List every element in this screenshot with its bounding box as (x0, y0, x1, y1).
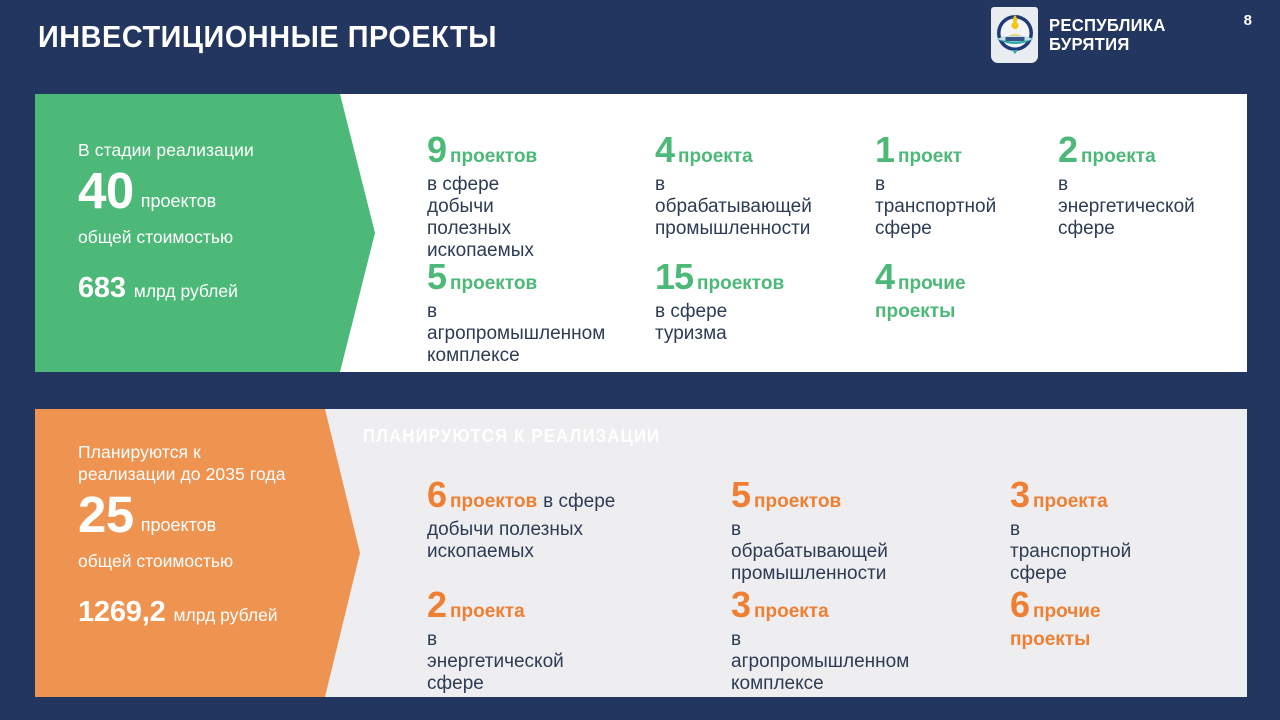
slide-header: ИНВЕСТИЦИОННЫЕ ПРОЕКТЫ РЕСПУБЛИКА (0, 0, 1280, 90)
green-panel-sub: общей стоимостью (78, 226, 328, 248)
project-item-description: проекты (875, 301, 966, 323)
project-item-description: в агропромышленном комплексе (427, 301, 605, 367)
project-item-description: проекты (1010, 629, 1101, 651)
project-item-head: 1проект (875, 132, 996, 168)
brand-line-2: БУРЯТИЯ (1049, 35, 1166, 54)
card-planned: ПЛАНИРУЮТСЯ К РЕАЛИЗАЦИИ Планируются к р… (35, 409, 1247, 697)
card-in-progress: В стадии реализации 40 проектов общей ст… (35, 94, 1247, 372)
project-item-unit: проектов (450, 491, 537, 512)
project-item-head: 6прочие (1010, 587, 1101, 623)
project-item-inline-text: в сфере (543, 491, 615, 512)
project-item: 9проектовв сфере добычи полезных ископае… (427, 132, 537, 262)
project-item-unit: проектов (754, 491, 841, 512)
project-item-count: 5 (731, 474, 750, 515)
project-item: 4проектав обрабатывающей промышленности (655, 132, 812, 240)
project-item-count: 5 (427, 256, 446, 297)
project-item-unit: проекта (754, 601, 829, 622)
project-item-head: 3проекта (731, 587, 909, 623)
project-item-unit: проект (898, 146, 962, 167)
project-item-count: 3 (731, 584, 750, 625)
green-panel-cost-unit: млрд рублей (134, 281, 238, 302)
project-item-description: добычи полезных ископаемых (427, 519, 615, 563)
project-item: 15проектовв сфере туризма (655, 259, 784, 345)
orange-panel-cost-value: 1269,2 (78, 596, 166, 629)
green-panel-count-unit: проектов (141, 191, 216, 212)
project-item-head: 15проектов (655, 259, 784, 295)
project-item: 3проектав транспортной сфере (1010, 477, 1131, 585)
project-item-description: в транспортной сфере (875, 174, 996, 240)
project-item-unit: проектов (697, 273, 784, 294)
project-item-description: в обрабатывающей промышленности (655, 174, 812, 240)
orange-panel-count: 25 проектов (78, 487, 328, 543)
green-panel-cost-value: 683 (78, 272, 126, 305)
summary-panel-green-content: В стадии реализации 40 проектов общей ст… (78, 139, 328, 305)
project-item-count: 1 (875, 129, 894, 170)
project-item-head: 2проекта (1058, 132, 1195, 168)
project-item-unit: проектов (450, 146, 537, 167)
project-item-count: 4 (875, 256, 894, 297)
project-item-head: 6проектовв сфере (427, 477, 615, 513)
project-item-count: 6 (1010, 584, 1029, 625)
project-item-count: 9 (427, 129, 446, 170)
project-item: 3проектав агропромышленном комплексе (731, 587, 909, 695)
project-item-count: 4 (655, 129, 674, 170)
summary-panel-orange-content: Планируются к реализации до 2035 года 25… (78, 441, 328, 629)
project-item-description: в транспортной сфере (1010, 519, 1131, 585)
project-item-description: в агропромышленном комплексе (731, 629, 909, 695)
green-panel-cost: 683 млрд рублей (78, 272, 328, 305)
green-panel-count-value: 40 (78, 163, 134, 219)
project-item-head: 4прочие (875, 259, 966, 295)
project-item-description: в энергетической сфере (427, 629, 564, 695)
summary-panel-green: В стадии реализации 40 проектов общей ст… (35, 94, 380, 372)
summary-panel-orange: Планируются к реализации до 2035 года 25… (35, 409, 380, 697)
project-item-description: в сфере добычи полезных ископаемых (427, 174, 537, 262)
project-item-unit: прочие (898, 273, 966, 294)
project-item-count: 2 (1058, 129, 1077, 170)
project-item-head: 5проектов (731, 477, 888, 513)
brand-line-1: РЕСПУБЛИКА (1049, 16, 1166, 35)
green-panel-count: 40 проектов (78, 163, 328, 219)
brand-label: РЕСПУБЛИКА БУРЯТИЯ (1049, 16, 1166, 54)
project-item: 6прочиепроекты (1010, 587, 1101, 651)
project-item-head: 3проекта (1010, 477, 1131, 513)
project-item-head: 5проектов (427, 259, 605, 295)
orange-panel-count-unit: проектов (141, 515, 216, 536)
orange-panel-cost-unit: млрд рублей (174, 605, 278, 626)
brand-block: РЕСПУБЛИКА БУРЯТИЯ (991, 7, 1172, 63)
project-item-count: 2 (427, 584, 446, 625)
project-item: 4прочиепроекты (875, 259, 966, 323)
project-item-unit: прочие (1033, 601, 1101, 622)
orange-panel-cost: 1269,2 млрд рублей (78, 596, 328, 629)
project-item: 1проектв транспортной сфере (875, 132, 996, 240)
orange-panel-lead: Планируются к реализации до 2035 года (78, 441, 328, 485)
project-item-head: 2проекта (427, 587, 564, 623)
project-item: 5проектовв обрабатывающей промышленности (731, 477, 888, 585)
orange-panel-count-value: 25 (78, 487, 134, 543)
page-title: ИНВЕСТИЦИОННЫЕ ПРОЕКТЫ (38, 19, 497, 55)
page-number: 8 (1244, 12, 1252, 29)
project-item: 2проектав энергетической сфере (1058, 132, 1195, 240)
project-item-unit: проекта (1081, 146, 1156, 167)
project-item-description: в обрабатывающей промышленности (731, 519, 888, 585)
project-item-unit: проекта (1033, 491, 1108, 512)
project-item: 5проектовв агропромышленном комплексе (427, 259, 605, 367)
green-panel-lead: В стадии реализации (78, 139, 328, 161)
project-item-count: 15 (655, 256, 693, 297)
project-item: 2проектав энергетической сфере (427, 587, 564, 695)
orange-panel-sub: общей стоимостью (78, 550, 328, 572)
project-item-unit: проекта (678, 146, 753, 167)
slide-root: ИНВЕСТИЦИОННЫЕ ПРОЕКТЫ РЕСПУБЛИКА (0, 0, 1280, 720)
project-item-description: в сфере туризма (655, 301, 784, 345)
project-item-head: 9проектов (427, 132, 537, 168)
coat-of-arms-buryatia-icon (991, 7, 1038, 63)
project-item-description: в энергетической сфере (1058, 174, 1195, 240)
project-item: 6проектовв сфередобычи полезных ископаем… (427, 477, 615, 563)
project-item-count: 3 (1010, 474, 1029, 515)
project-item-unit: проектов (450, 273, 537, 294)
project-item-count: 6 (427, 474, 446, 515)
project-item-head: 4проекта (655, 132, 812, 168)
planned-section-heading: ПЛАНИРУЮТСЯ К РЕАЛИЗАЦИИ (363, 426, 660, 447)
project-item-unit: проекта (450, 601, 525, 622)
